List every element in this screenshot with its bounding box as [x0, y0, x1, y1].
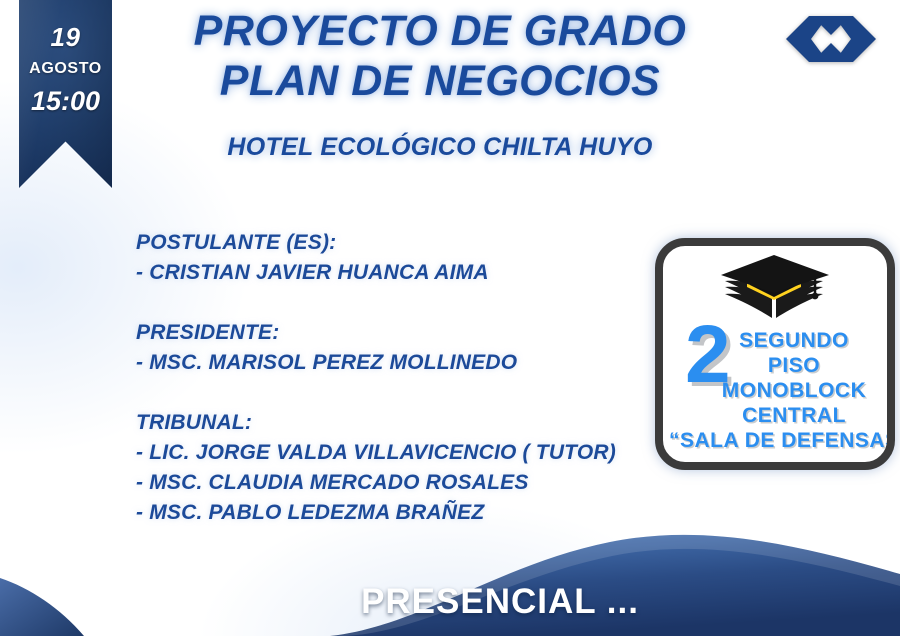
section-postulante: POSTULANTE (ES): - CRISTIAN JAVIER HUANC…: [136, 228, 656, 288]
title-line-1: PROYECTO DE GRADO: [150, 6, 730, 56]
ribbon-month: AGOSTO: [19, 60, 112, 78]
location-line-1: SEGUNDO: [707, 328, 881, 353]
section-heading: POSTULANTE (ES):: [136, 228, 656, 258]
section-presidente: PRESIDENTE: - MSC. MARISOL PEREZ MOLLINE…: [136, 318, 656, 378]
location-line-4: CENTRAL: [707, 403, 881, 428]
location-line-2: PISO: [707, 353, 881, 378]
poster-canvas: 19 AGOSTO 15:00 PROYECTO DE GRADO PLAN D…: [0, 0, 900, 636]
date-ribbon: 19 AGOSTO 15:00: [19, 0, 112, 188]
title-line-2: PLAN DE NEGOCIOS: [150, 56, 730, 106]
ribbon-time: 15:00: [19, 86, 112, 117]
section-entry: - MSC. CLAUDIA MERCADO ROSALES: [136, 468, 656, 498]
modality-label: PRESENCIAL ...: [0, 582, 900, 622]
section-entry: - CRISTIAN JAVIER HUANCA AIMA: [136, 258, 656, 288]
section-entry: - MSC. PABLO LEDEZMA BRAÑEZ: [136, 498, 656, 528]
section-heading: PRESIDENTE:: [136, 318, 656, 348]
details-block: POSTULANTE (ES): - CRISTIAN JAVIER HUANC…: [136, 228, 656, 528]
institution-logo-icon: [776, 8, 886, 70]
section-heading: TRIBUNAL:: [136, 408, 656, 438]
section-entry: - MSC. MARISOL PEREZ MOLLINEDO: [136, 348, 656, 378]
location-badge: 2 SEGUNDO PISO MONOBLOCK CENTRAL “SALA D…: [655, 238, 895, 470]
location-line-5: “SALA DE DEFENSAS”: [669, 428, 885, 453]
poster-title: PROYECTO DE GRADO PLAN DE NEGOCIOS: [150, 6, 730, 106]
location-text: SEGUNDO PISO MONOBLOCK CENTRAL “SALA DE …: [707, 328, 881, 453]
section-entry: - LIC. JORGE VALDA VILLAVICENCIO ( TUTOR…: [136, 438, 656, 468]
ribbon-day: 19: [19, 22, 112, 53]
section-tribunal: TRIBUNAL: - LIC. JORGE VALDA VILLAVICENC…: [136, 408, 656, 528]
poster-subtitle: HOTEL ECOLÓGICO CHILTA HUYO: [150, 133, 730, 162]
location-line-3: MONOBLOCK: [707, 378, 881, 403]
